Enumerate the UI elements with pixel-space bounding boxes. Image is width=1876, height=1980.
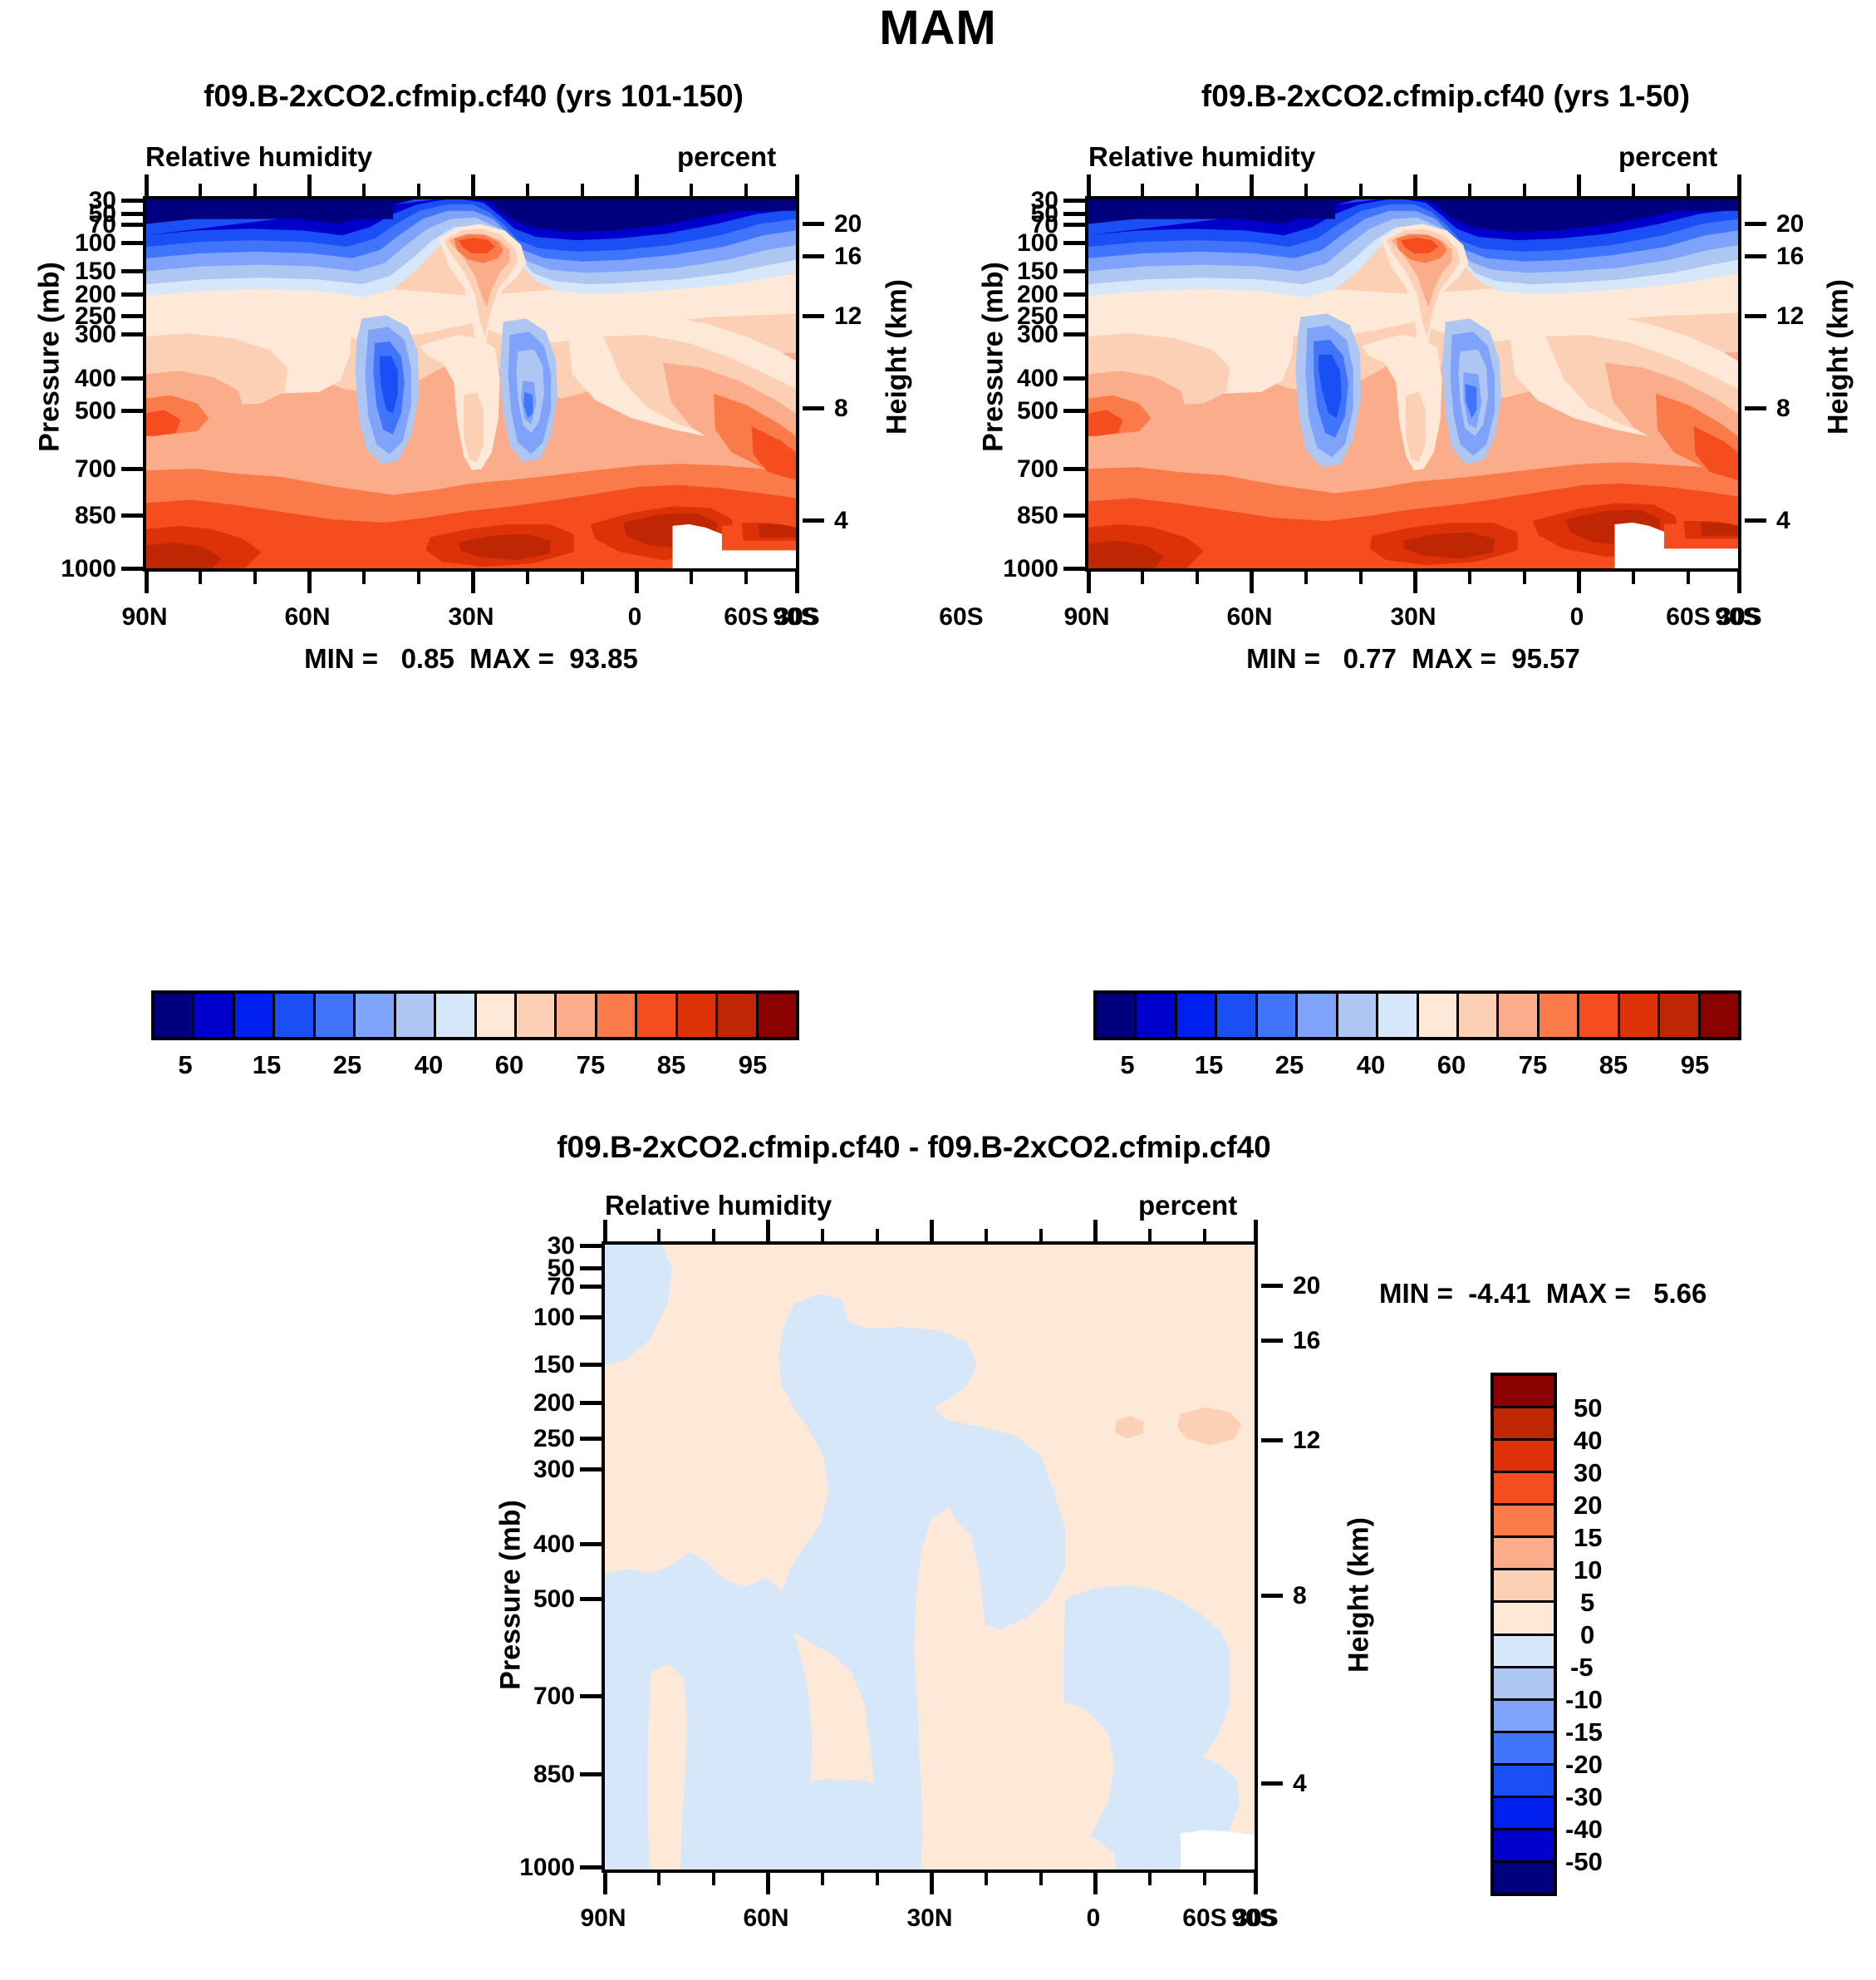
plot-panel-difference[interactable] (602, 1241, 1258, 1873)
colorbar-cell (1097, 994, 1137, 1037)
colorbar-cell (1494, 1668, 1554, 1701)
colorbar-cell (1494, 1798, 1554, 1830)
colorbar-cell (1217, 994, 1257, 1037)
panel-units-right: percent (1618, 141, 1717, 173)
colorbar-cell (1494, 1473, 1554, 1506)
contour-field-difference (605, 1245, 1255, 1869)
colorbar-cell (557, 994, 597, 1037)
colorbar-cell (1494, 1570, 1554, 1603)
panel-title-right: f09.B-2xCO2.cfmip.cf40 (yrs 1-50) (1022, 79, 1869, 114)
colorbar-cell (1494, 1603, 1554, 1635)
colorbar-cell (477, 994, 517, 1037)
contour-field-right (1088, 199, 1738, 568)
colorbar-cell (759, 994, 796, 1037)
colorbar-cell (1494, 1701, 1554, 1733)
colorbar-cell (1494, 1441, 1554, 1473)
colorbar-cell (194, 994, 234, 1037)
y-axis-label-right-height: Height (km) (1823, 233, 1855, 482)
colorbar-cell (1494, 1830, 1554, 1863)
colorbar-cell (1494, 1636, 1554, 1668)
colorbar-cell (637, 994, 677, 1037)
colorbar-cell (1540, 994, 1579, 1037)
colorbar-cell (436, 994, 476, 1037)
colorbar-cell (316, 994, 356, 1037)
colorbar-cell (1459, 994, 1499, 1037)
colorbar-cell (517, 994, 557, 1037)
colorbar-cell (718, 994, 758, 1037)
plot-panel-right[interactable] (1085, 196, 1741, 572)
colorbar-cell (1494, 1538, 1554, 1570)
panel-title-left: f09.B-2xCO2.cfmip.cf40 (yrs 101-150) (50, 79, 897, 114)
colorbar-cell (1298, 994, 1338, 1037)
colorbar-cell (1494, 1766, 1554, 1798)
colorbar-left[interactable] (151, 990, 799, 1040)
colorbar-cell (1579, 994, 1619, 1037)
colorbar-cell (155, 994, 194, 1037)
panel-units-left: percent (677, 141, 776, 173)
plot-panel-left[interactable] (143, 196, 799, 572)
panel-stats-difference: MIN = -4.41 MAX = 5.66 (1379, 1278, 1707, 1309)
colorbar-cell (396, 994, 436, 1037)
colorbar-cell (1701, 994, 1738, 1037)
colorbar-cell (597, 994, 637, 1037)
colorbar-cell (1177, 994, 1217, 1037)
colorbar-cell (1494, 1733, 1554, 1766)
panel-units-difference: percent (1138, 1190, 1237, 1221)
colorbar-cell (1494, 1863, 1554, 1893)
y-axis-label-left-height: Height (km) (882, 233, 914, 482)
colorbar-right[interactable] (1093, 990, 1741, 1040)
y-axis-label-difference-height: Height (km) (1343, 1471, 1376, 1720)
panel-stats-right: MIN = 0.77 MAX = 95.57 (1085, 643, 1741, 675)
colorbar-cell (1499, 994, 1539, 1037)
contour-field-left (146, 199, 796, 568)
colorbar-cell (235, 994, 275, 1037)
colorbar-cell (1494, 1408, 1554, 1441)
colorbar-cell (1338, 994, 1378, 1037)
colorbar-cell (1258, 994, 1298, 1037)
colorbar-cell (1137, 994, 1176, 1037)
colorbar-cell (1494, 1376, 1554, 1408)
x-axis-tick-label-left-90S: 90S (745, 603, 845, 631)
colorbar-difference[interactable] (1490, 1373, 1557, 1896)
figure-season-title: MAM (0, 0, 1876, 56)
colorbar-cell (1419, 994, 1459, 1037)
panel-variable-right: Relative humidity (1088, 141, 1315, 173)
panel-variable-difference: Relative humidity (605, 1190, 832, 1221)
panel-variable-left: Relative humidity (145, 141, 372, 173)
colorbar-cell (356, 994, 395, 1037)
colorbar-cell (1620, 994, 1660, 1037)
colorbar-cell (1660, 994, 1700, 1037)
panel-title-difference: f09.B-2xCO2.cfmip.cf40 - f09.B-2xCO2.cfm… (440, 1130, 1387, 1165)
colorbar-cell (678, 994, 718, 1037)
colorbar-cell (1378, 994, 1418, 1037)
panel-stats-left: MIN = 0.85 MAX = 93.85 (143, 643, 799, 675)
colorbar-cell (1494, 1506, 1554, 1538)
colorbar-cell (275, 994, 315, 1037)
